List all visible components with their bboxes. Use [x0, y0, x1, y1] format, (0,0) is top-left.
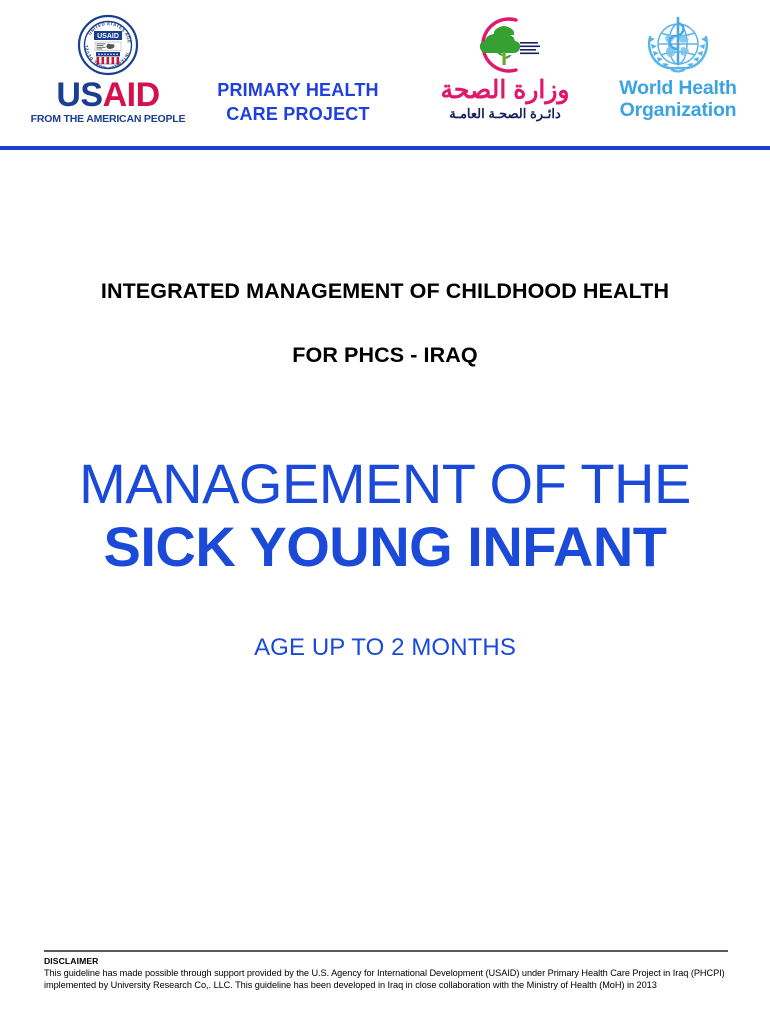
disclaimer-section: DISCLAIMER This guideline has made possi… — [44, 950, 728, 992]
cover-title-block: INTEGRATED MANAGEMENT OF CHILDHOOD HEALT… — [0, 150, 770, 662]
phc-project-line2: CARE PROJECT — [198, 102, 398, 126]
usaid-seal-icon: UNITED STATES AGENCY INTERNATIONAL DEVEL… — [77, 14, 139, 76]
disclaimer-body-text: This guideline has made possible through… — [44, 967, 728, 992]
disclaimer-heading: DISCLAIMER — [44, 956, 728, 967]
subtitle-line-2: FOR PHCS - IRAQ — [0, 342, 770, 368]
who-emblem-icon — [636, 14, 720, 76]
usaid-tagline: FROM THE AMERICAN PEOPLE — [18, 113, 198, 126]
svg-text:USAID: USAID — [97, 33, 119, 40]
who-logo: World Health Organization — [594, 14, 762, 121]
usaid-wordmark-aid: AID — [103, 76, 160, 114]
usaid-logo: UNITED STATES AGENCY INTERNATIONAL DEVEL… — [18, 14, 198, 126]
moh-iraq-logo: وزارة الصحة دائـرة الصحـة العامـة — [410, 14, 600, 122]
phc-project-logo: PRIMARY HEALTH CARE PROJECT — [198, 78, 398, 126]
main-title-line-1: MANAGEMENT OF THE — [0, 454, 770, 514]
moh-tree-emblem-icon — [450, 14, 560, 76]
moh-arabic-sub: دائـرة الصحـة العامـة — [410, 105, 600, 122]
disclaimer-divider-rule — [44, 950, 728, 952]
usaid-wordmark-us: US — [56, 76, 102, 114]
subtitle-line-1: INTEGRATED MANAGEMENT OF CHILDHOOD HEALT… — [0, 278, 770, 304]
usaid-wordmark: USAID — [18, 78, 198, 112]
phc-project-line1: PRIMARY HEALTH — [198, 78, 398, 102]
age-range-label: AGE UP TO 2 MONTHS — [0, 634, 770, 662]
main-title-line-2: SICK YOUNG INFANT — [0, 516, 770, 578]
who-line1: World Health — [594, 77, 762, 99]
header-logo-bar: UNITED STATES AGENCY INTERNATIONAL DEVEL… — [0, 0, 770, 146]
who-line2: Organization — [594, 99, 762, 121]
moh-arabic-main: وزارة الصحة — [410, 76, 600, 105]
